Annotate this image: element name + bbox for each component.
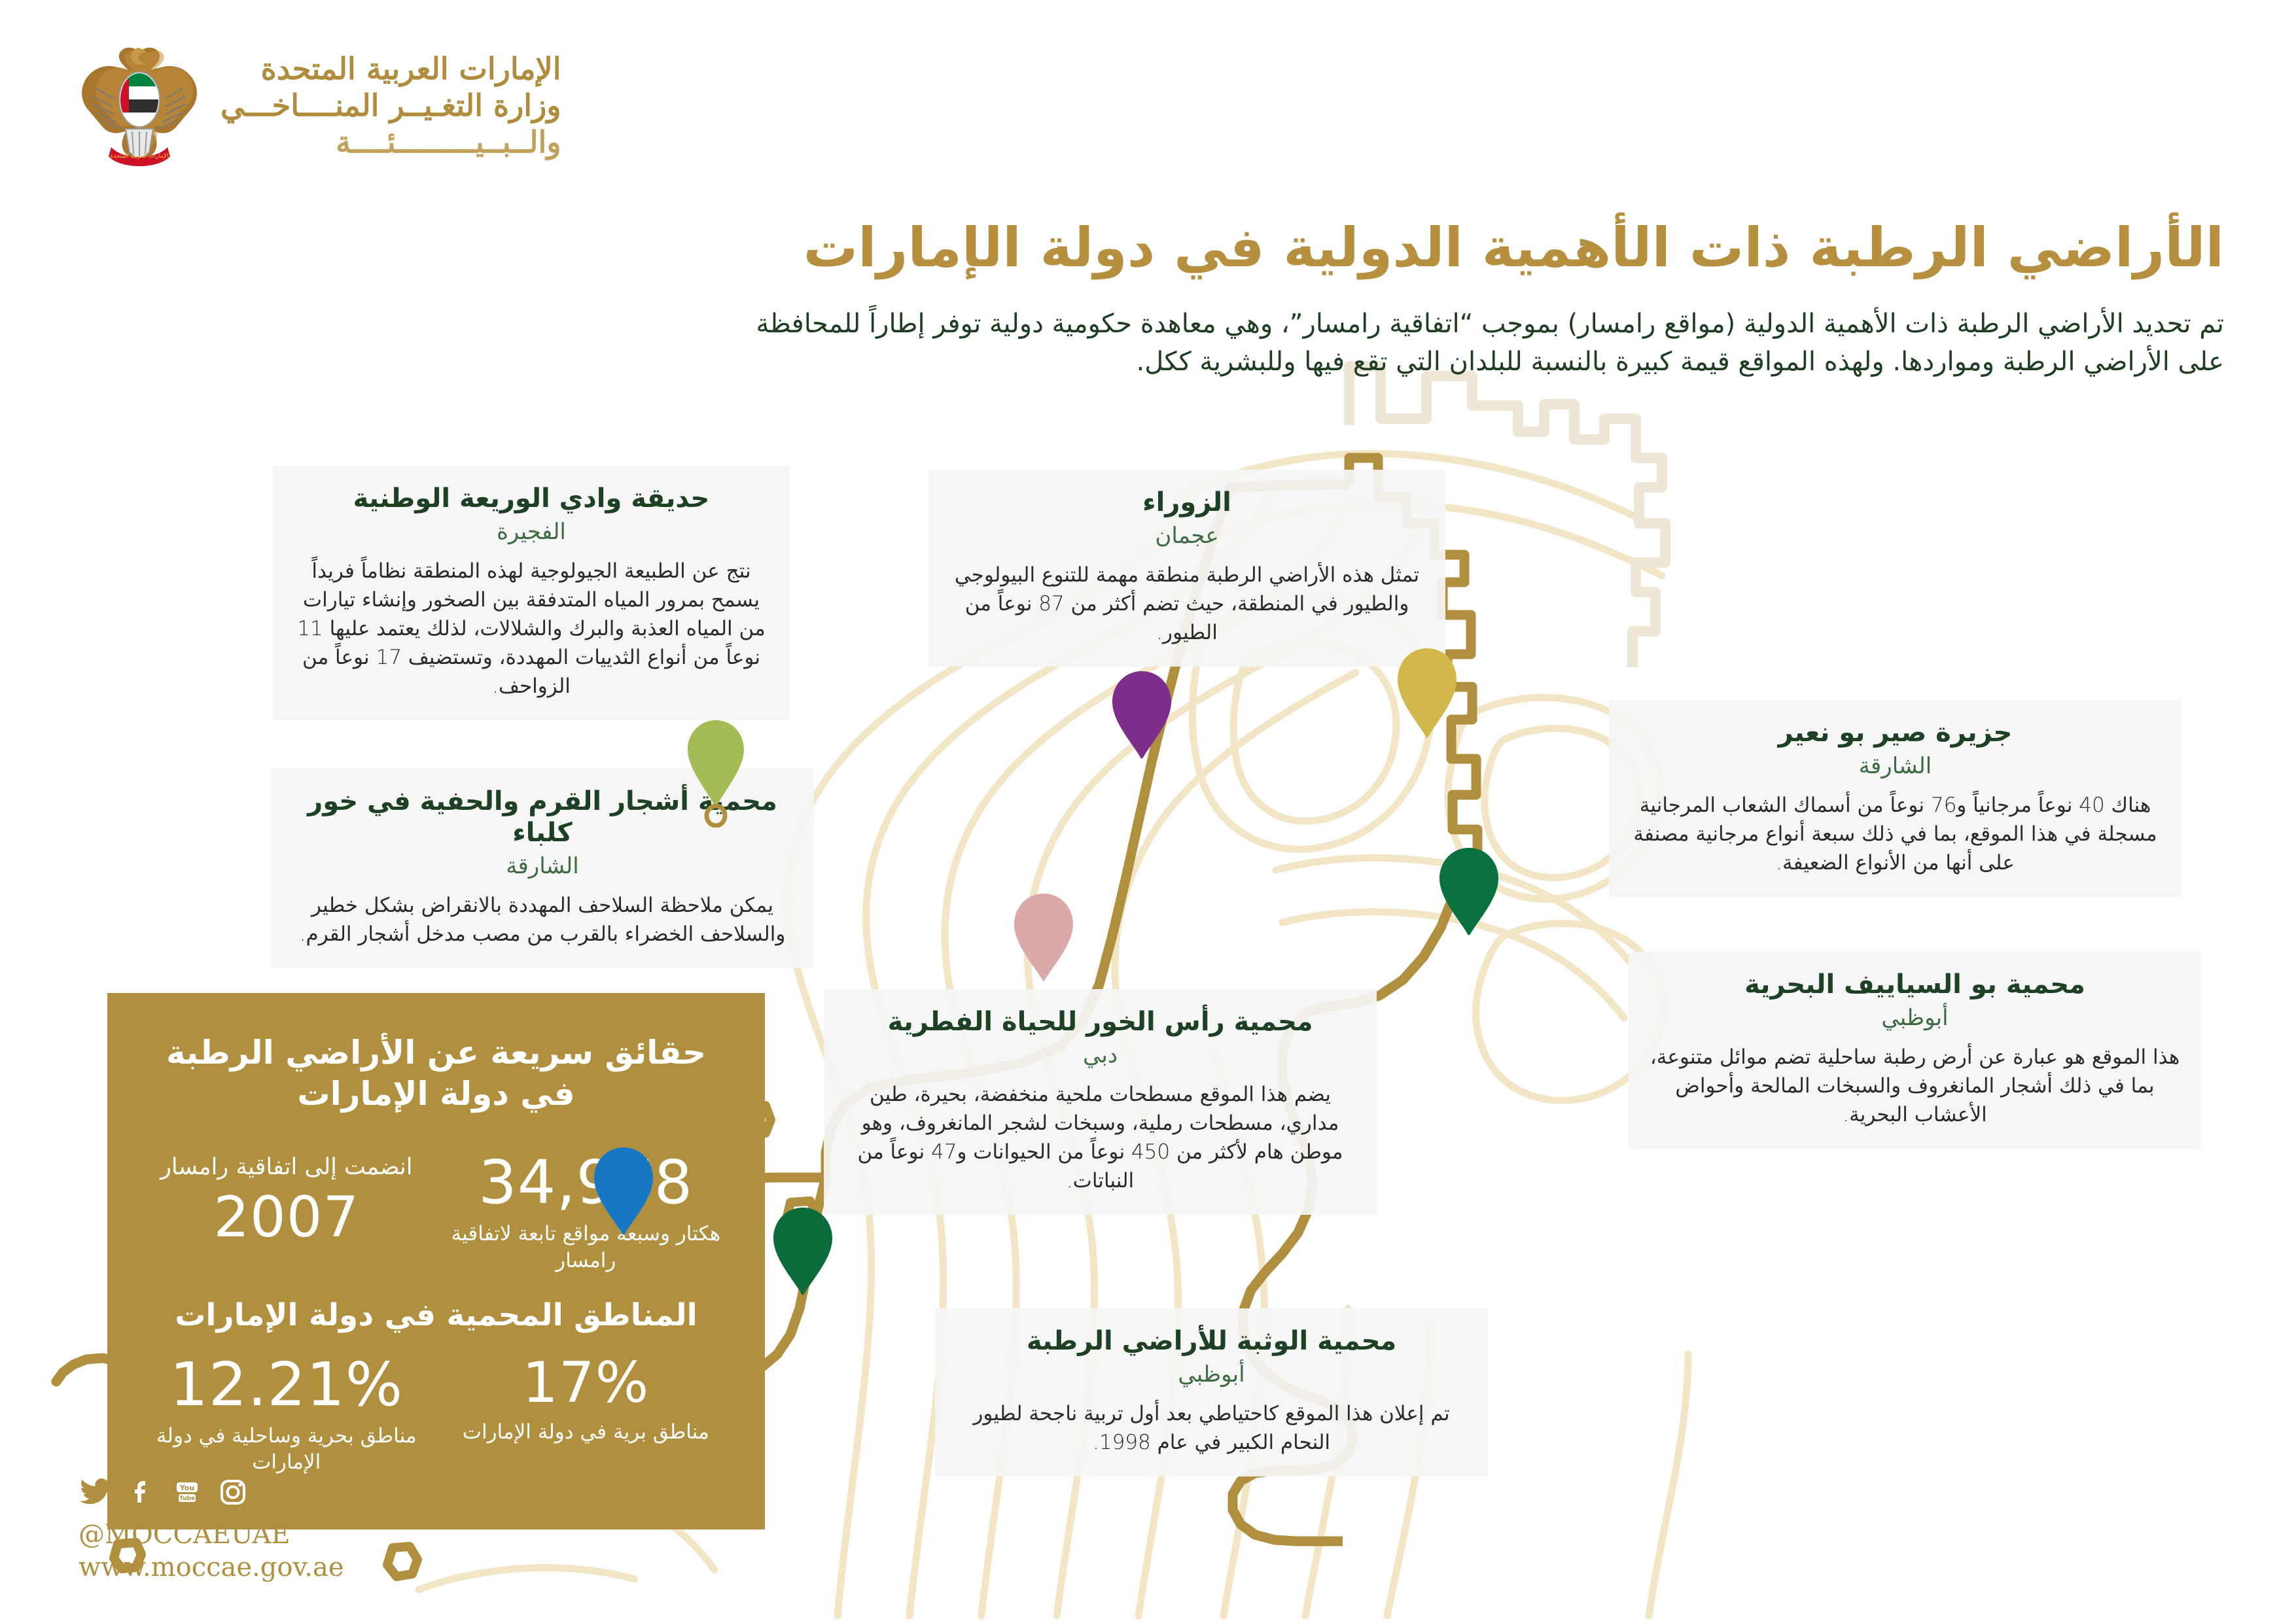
site-emirate: الشارقة — [291, 852, 794, 881]
twitter-icon[interactable] — [79, 1475, 113, 1509]
social-handle[interactable]: @MOCCAEUAE — [79, 1518, 344, 1551]
facts-protected-title: المناطق المحمية في دولة الإمارات — [143, 1297, 729, 1335]
site-emirate: عجمان — [948, 522, 1426, 550]
site-title: محمية بو السياييف البحرية — [1648, 969, 2181, 1000]
page-title: الأراضي الرطبة ذات الأهمية الدولية في دو… — [732, 216, 2224, 280]
fact-marine-value: 12.21% — [143, 1355, 430, 1415]
fact-terrestrial-value: 17% — [443, 1355, 730, 1411]
fact-area: 34,978 هكتار وسبعة مواقع تابعة لاتفاقية … — [443, 1153, 730, 1274]
instagram-icon[interactable] — [216, 1475, 250, 1509]
site-title: حديقة وادي الوريعة الوطنية — [292, 483, 770, 514]
site-title: جزيرة صير بو نعير — [1629, 717, 2162, 748]
fact-joined-year: 2007 — [143, 1189, 430, 1246]
facts-panel-title: حقائق سريعة عن الأراضي الرطبة في دولة ال… — [143, 1032, 729, 1115]
map-pin-al-wathba[interactable] — [767, 1204, 839, 1299]
map-pin-zorah[interactable] — [1106, 667, 1178, 762]
site-card-bu-al-syayeef: محمية بو السياييف البحرية أبوظبي هذا الم… — [1629, 952, 2201, 1149]
site-description: هذا الموقع هو عبارة عن أرض رطبة ساحلية ت… — [1648, 1043, 2181, 1129]
site-description: نتج عن الطبيعة الجيولوجية لهذه المنطقة ن… — [292, 557, 770, 701]
fact-marine: 12.21% مناطق بحرية وساحلية في دولة الإما… — [143, 1355, 430, 1476]
site-title: محمية رأس الخور للحياة الفطرية — [843, 1006, 1357, 1038]
social-icon-row: You Tube — [79, 1475, 344, 1509]
quick-facts-panel: حقائق سريعة عن الأراضي الرطبة في دولة ال… — [107, 993, 765, 1529]
map-pin-ras-al-khor[interactable] — [1008, 890, 1080, 985]
fact-joined-label: انضمت إلى اتفاقية رامسار — [143, 1153, 430, 1183]
facts-row-protected: 17% مناطق برية في دولة الإمارات 12.21% م… — [143, 1355, 729, 1476]
site-emirate: أبوظبي — [1648, 1004, 2181, 1032]
fact-marine-label: مناطق بحرية وساحلية في دولة الإمارات — [143, 1423, 430, 1476]
site-card-ras-al-khor: محمية رأس الخور للحياة الفطرية دبي يضم ه… — [824, 989, 1377, 1215]
svg-text:Tube: Tube — [179, 1495, 195, 1502]
site-emirate: دبي — [843, 1041, 1357, 1070]
uae-falcon-emblem-icon: الإمارات العربية المتحدة — [72, 36, 206, 170]
site-emirate: الفجيرة — [292, 518, 770, 546]
site-card-sir-bu-nair: جزيرة صير بو نعير الشارقة هناك 40 نوعاً … — [1609, 700, 2181, 897]
site-title: محمية الوثبة للأراضي الرطبة — [955, 1325, 1468, 1357]
site-emirate: الشارقة — [1629, 752, 2162, 780]
logo-line-environment: والــبــيـــــــــئــــة — [221, 124, 561, 160]
site-card-wurayah: حديقة وادي الوريعة الوطنية الفجيرة نتج ع… — [273, 466, 790, 720]
site-description: تم إعلان هذا الموقع كاحتياطي بعد أول ترب… — [955, 1399, 1468, 1457]
site-emirate: أبوظبي — [955, 1361, 1468, 1389]
fact-area-value: 34,978 — [443, 1153, 730, 1213]
youtube-icon[interactable]: You Tube — [170, 1475, 204, 1509]
social-footer: You Tube @MOCCAEUAE www.moccae.gov.ae — [79, 1475, 344, 1584]
infographic-root: الإمارات العربية المتحدة الإمارات العربي… — [0, 0, 2296, 1623]
logo-line-ministry: وزارة التغـيــر المنــــاخـــي — [221, 87, 561, 124]
site-description: هناك 40 نوعاً مرجانياً و76 نوعاً من أسما… — [1629, 791, 2162, 877]
ministry-logo: الإمارات العربية المتحدة الإمارات العربي… — [72, 36, 648, 186]
facebook-icon[interactable] — [124, 1475, 158, 1509]
header: الأراضي الرطبة ذات الأهمية الدولية في دو… — [732, 216, 2224, 381]
site-description: يضم هذا الموقع مسطحات ملحية منخفضة، بحير… — [843, 1080, 1357, 1195]
site-card-al-wathba: محمية الوثبة للأراضي الرطبة أبوظبي تم إع… — [935, 1308, 1488, 1476]
site-card-zorah: الزوراء عجمان تمثل هذه الأراضي الرطبة من… — [928, 470, 1445, 667]
fact-terrestrial: 17% مناطق برية في دولة الإمارات — [443, 1355, 730, 1446]
map-pin-bu-al-syayeef[interactable] — [588, 1143, 660, 1238]
social-website[interactable]: www.moccae.gov.ae — [79, 1551, 344, 1584]
site-description: تمثل هذه الأراضي الرطبة منطقة مهمة للتنو… — [948, 561, 1426, 647]
map-pin-sir-bu-nair[interactable] — [680, 716, 751, 828]
svg-text:You: You — [179, 1484, 194, 1492]
fact-area-label: هكتار وسبعة مواقع تابعة لاتفاقية رامسار — [443, 1221, 730, 1274]
page-subtitle: تم تحديد الأراضي الرطبة ذات الأهمية الدو… — [732, 305, 2224, 381]
logo-line-country: الإمارات العربية المتحدة — [221, 50, 561, 87]
site-description: يمكن ملاحظة السلاحف المهددة بالانقراض بش… — [291, 891, 794, 949]
fact-terrestrial-label: مناطق برية في دولة الإمارات — [443, 1419, 730, 1446]
map-pin-wurayah[interactable] — [1390, 644, 1464, 741]
map-pin-kalba[interactable] — [1433, 844, 1505, 939]
svg-text:الإمارات العربية المتحدة: الإمارات العربية المتحدة — [110, 153, 168, 160]
site-title: الزوراء — [948, 487, 1426, 518]
fact-joined: انضمت إلى اتفاقية رامسار 2007 — [143, 1153, 430, 1246]
